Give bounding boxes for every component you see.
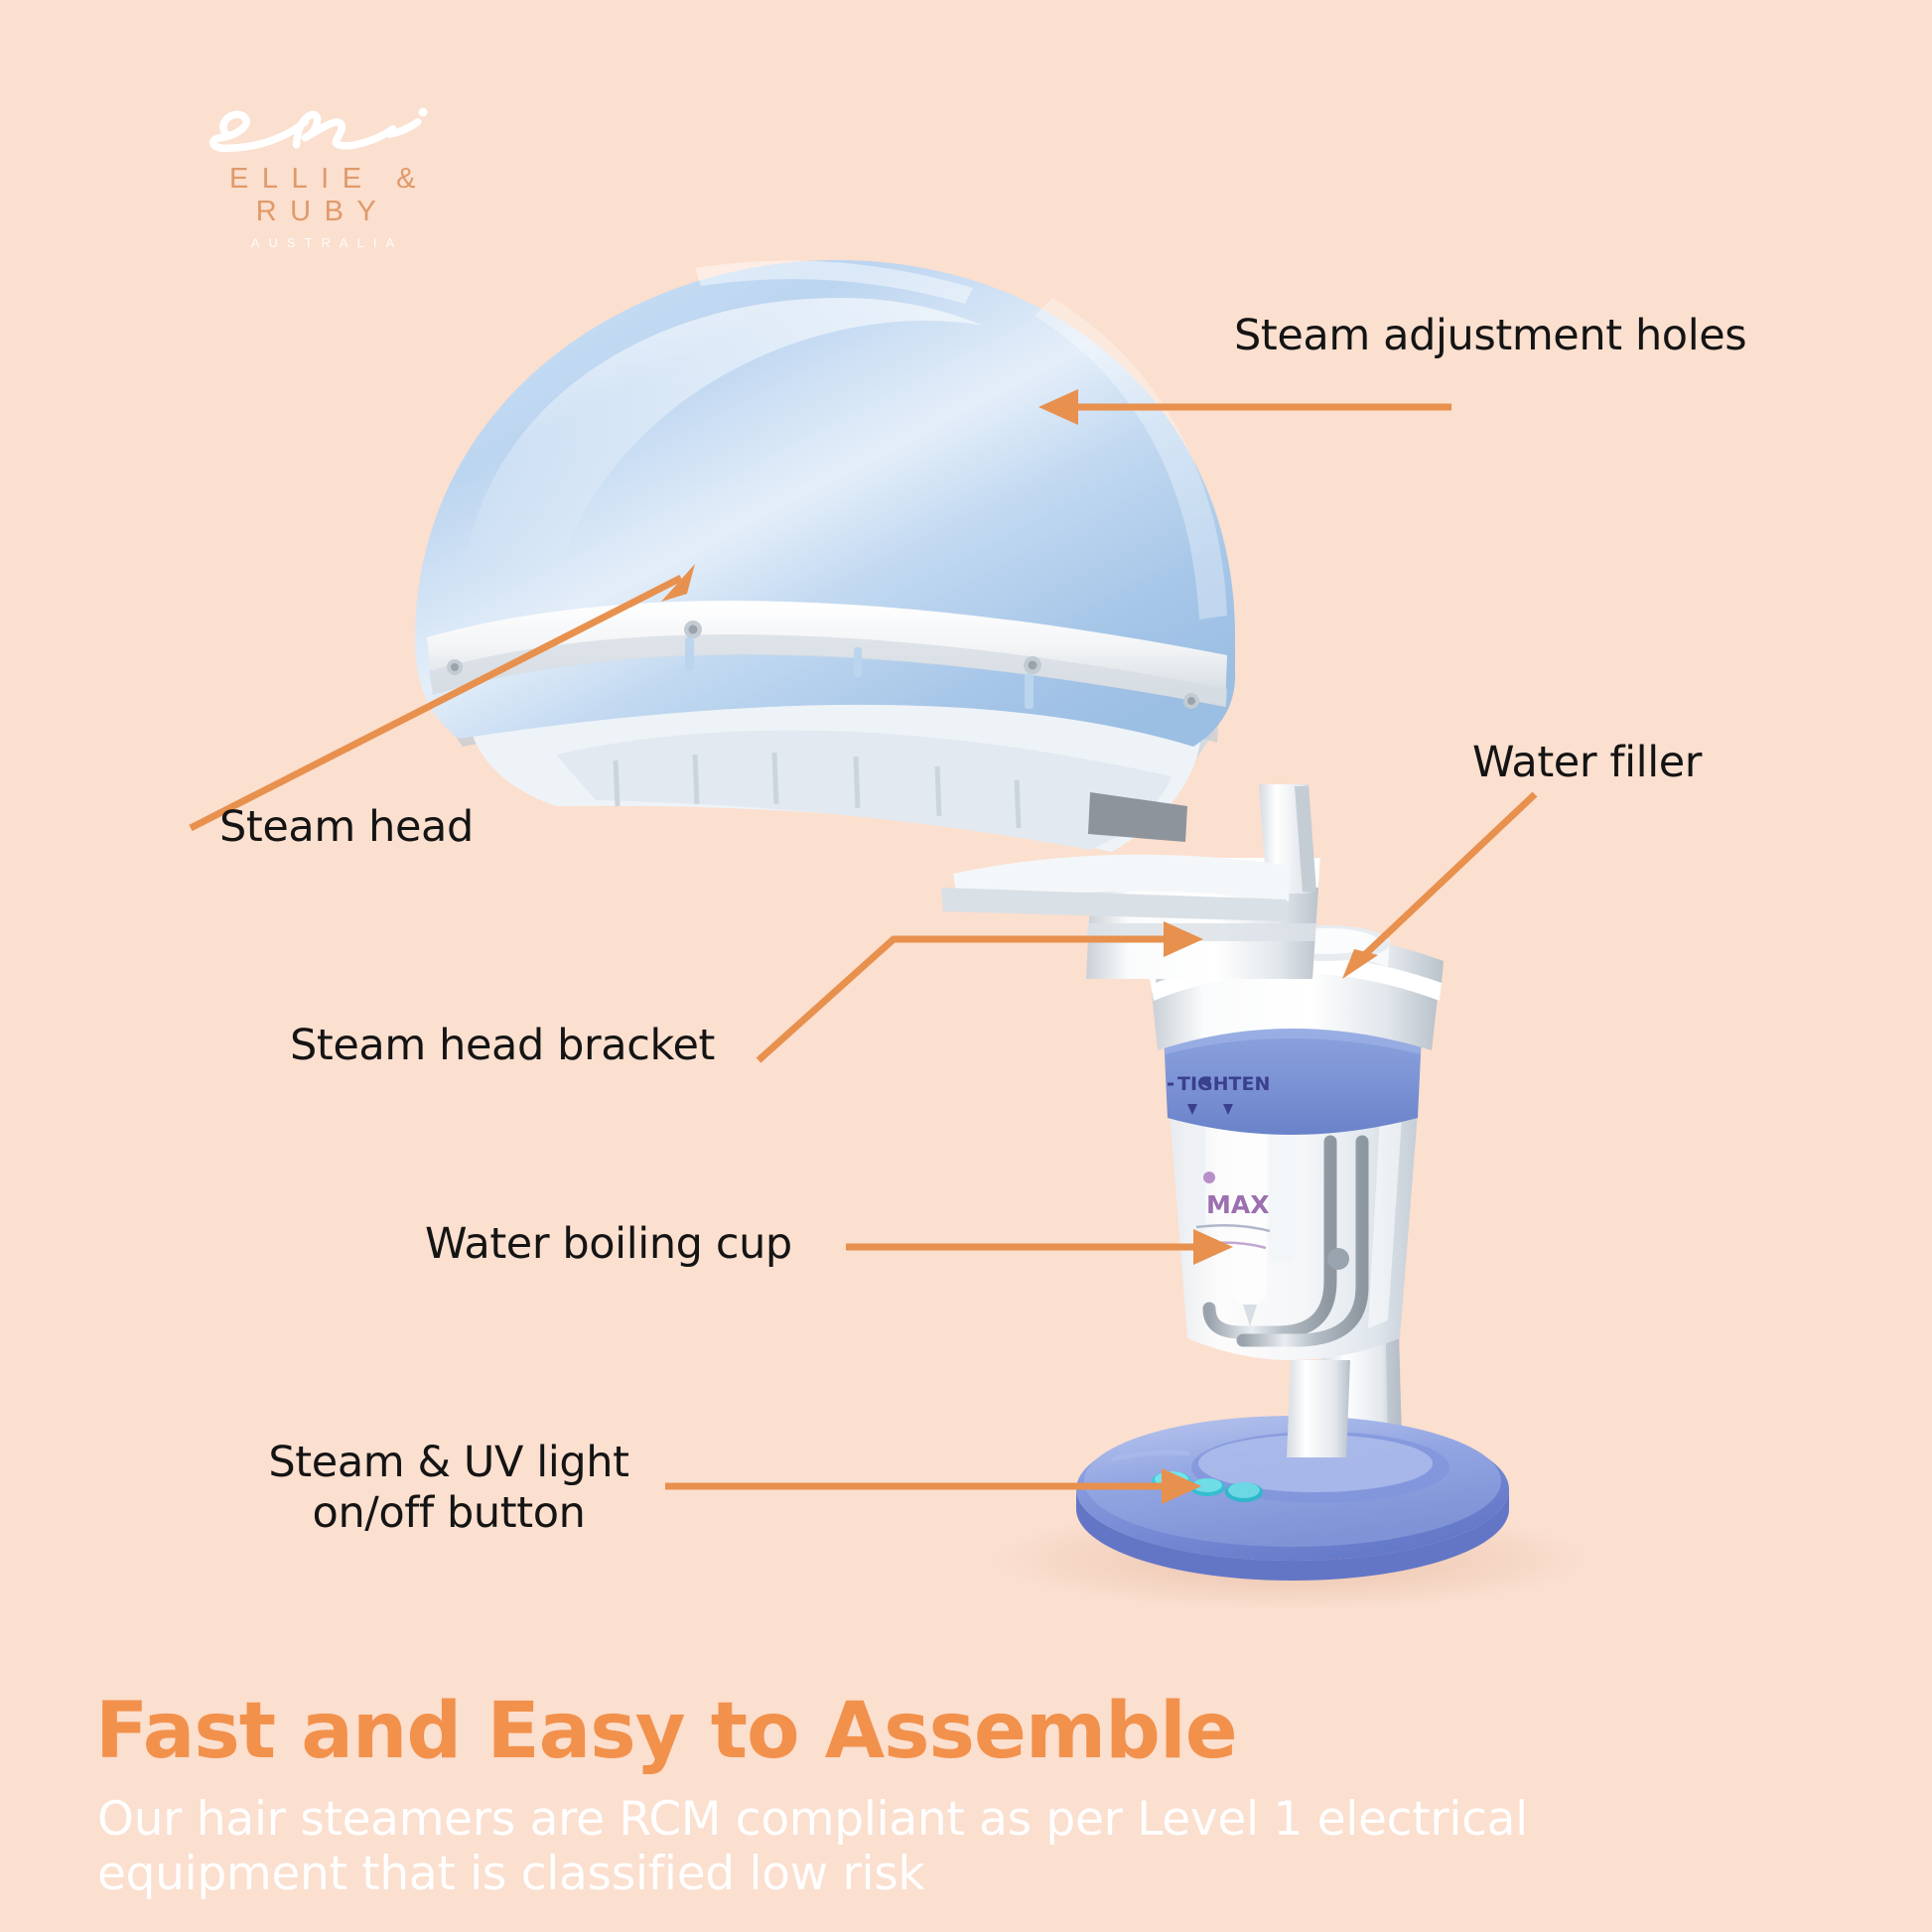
callout-label-water-filler: Water filler (1472, 738, 1702, 788)
svg-text:TIGHTEN: TIGHTEN (1177, 1073, 1270, 1095)
callout-label-steam-head-bracket: Steam head bracket (290, 1021, 715, 1071)
product-illustration: MAX TIGHTEN (0, 0, 1932, 1932)
callout-label-steam-head: Steam head (219, 802, 474, 853)
svg-text:MAX: MAX (1206, 1190, 1270, 1219)
infographic-canvas: ELLIE & RUBY AUSTRALIA (0, 0, 1932, 1932)
footer-body-text: Our hair steamers are RCM compliant as p… (97, 1792, 1646, 1902)
callout-label-steam-uv-button: Steam & UV light on/off button (255, 1438, 642, 1538)
footer-headline: Fast and Easy to Assemble (95, 1687, 1237, 1776)
callout-label-water-boiling-cup: Water boiling cup (425, 1219, 792, 1270)
callout-label-steam-adjustment-holes: Steam adjustment holes (1234, 311, 1746, 361)
